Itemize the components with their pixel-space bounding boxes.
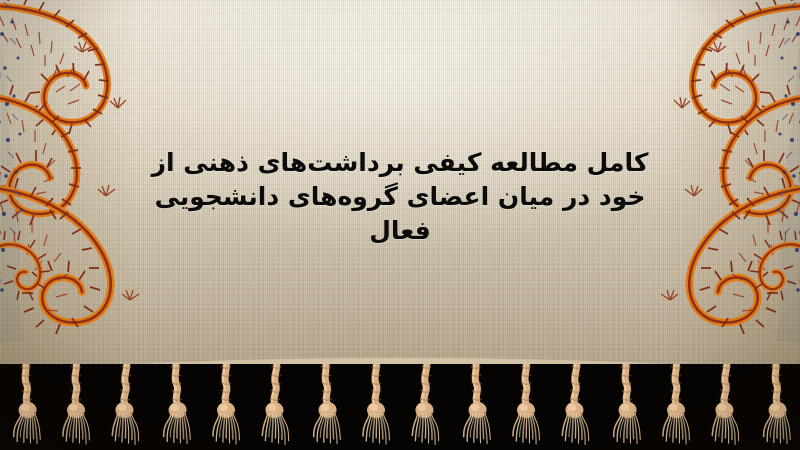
tassel [359, 364, 393, 450]
tassel [409, 364, 443, 450]
tassel-fringe [0, 364, 800, 450]
tassel [9, 364, 43, 450]
tassel [59, 364, 93, 450]
tassel [209, 364, 243, 450]
title-line-1: کامل مطالعه کیفی برداشت‌های ذهنی از [0, 150, 800, 175]
title-line-2: خود در میان اعضای گروه‌های دانشجویی [0, 184, 800, 209]
tassel [509, 364, 543, 450]
tassel [109, 364, 143, 450]
tassel [309, 364, 343, 450]
tassel [609, 364, 643, 450]
slide-title: کامل مطالعه کیفی برداشت‌های ذهنی از خود … [0, 150, 800, 243]
tassel [159, 364, 193, 450]
tassel [459, 364, 493, 450]
title-line-3: فعال [0, 218, 800, 243]
tassel [259, 364, 293, 450]
tassel [559, 364, 593, 450]
tassel [659, 364, 693, 450]
tassel [759, 364, 793, 450]
title-slide: کامل مطالعه کیفی برداشت‌های ذهنی از خود … [0, 0, 800, 450]
tassel [709, 364, 743, 450]
